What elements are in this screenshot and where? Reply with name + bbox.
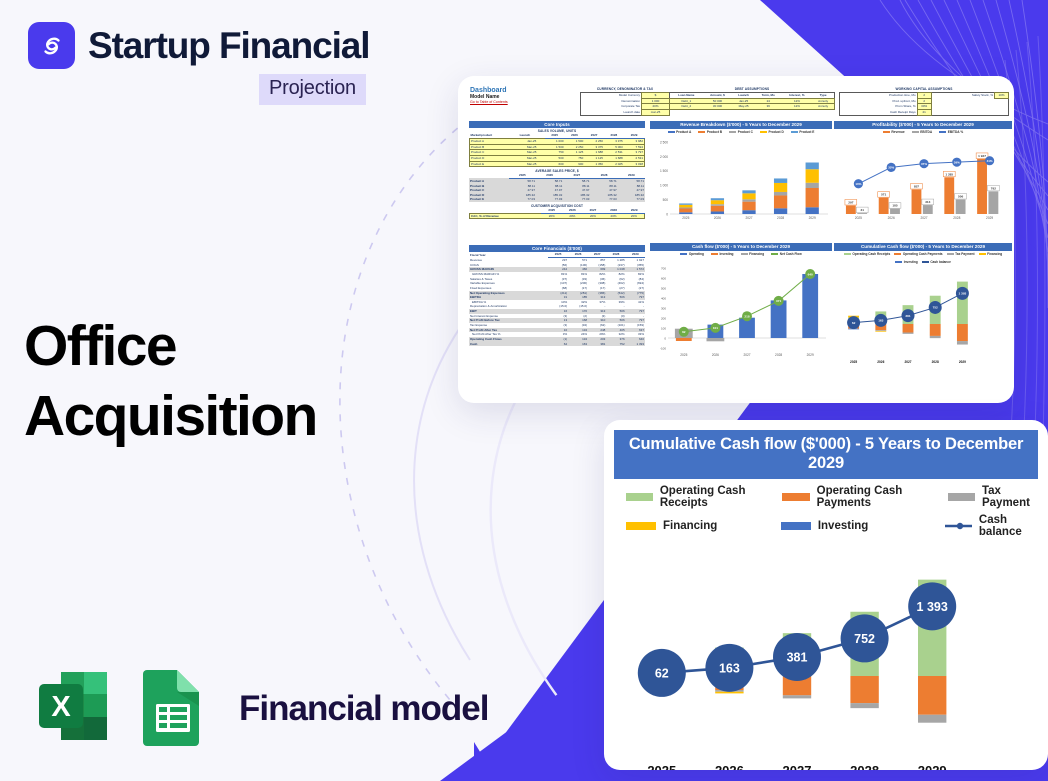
table-row[interactable]: Product EMar-256009001 3502 0253 038	[470, 161, 645, 167]
svg-text:62: 62	[655, 667, 669, 681]
svg-text:1 500: 1 500	[660, 169, 668, 173]
svg-text:506: 506	[958, 194, 963, 198]
sales-price-table[interactable]: 2025 2026 2027 2028 2029 Product A58.715…	[469, 173, 645, 202]
legend-row: Financing Investing Cash balance	[626, 514, 1046, 538]
svg-text:2029: 2029	[807, 353, 814, 357]
svg-text:600: 600	[661, 276, 666, 280]
svg-text:X: X	[51, 691, 71, 723]
svg-text:1 000: 1 000	[660, 183, 668, 187]
svg-text:62: 62	[682, 330, 686, 334]
legend-item: Product D	[760, 130, 784, 134]
svg-text:0: 0	[664, 336, 666, 340]
legend-item: Operating Cash Payments	[894, 252, 942, 256]
svg-text:297: 297	[848, 200, 853, 204]
working-capital-heading: WORKING CAPITAL ASSUMPTIONS	[839, 87, 1009, 91]
svg-text:1 927: 1 927	[978, 154, 986, 158]
cumulative-cash-flow-plot: 2 5002 0001 5001 0005000-500-1 000-1 500…	[614, 543, 1048, 770]
svg-text:-1 500: -1 500	[980, 265, 989, 266]
cumulative-cash-flow-mini-title: Cumulative Cash flow ($'000) - 5 Years t…	[834, 243, 1012, 251]
cash-balance-line-marker	[945, 521, 972, 531]
cumulative-cash-flow-mini-legend: Operating Cash Receipts Operating Cash P…	[834, 251, 1012, 265]
table-row[interactable]: Debt_2 30 000 May-25 36 12% Annuity	[670, 104, 835, 110]
legend-item: Operating	[680, 252, 704, 256]
legend-item: Investing	[711, 252, 734, 256]
profitability-chart: 297312025571185202685731320271 285506202…	[834, 136, 1012, 228]
svg-text:1 393: 1 393	[959, 291, 967, 295]
legend-item: Net Cash Flow	[771, 252, 802, 256]
svg-text:-1 500: -1 500	[980, 543, 1025, 547]
svg-text:700: 700	[661, 266, 666, 270]
google-sheets-icon	[137, 664, 209, 753]
svg-text:2029: 2029	[809, 216, 816, 220]
svg-text:2025: 2025	[850, 360, 857, 364]
brand-lockup: Startup Financial	[28, 22, 369, 69]
core-financials-heading: Core Financials ($'000)	[469, 245, 645, 252]
table-row[interactable]: CAC, % of Revenue20%20%20%20%20%	[470, 213, 645, 219]
legend-item-investing: Investing	[781, 514, 945, 538]
legend-item: Financing	[741, 252, 765, 256]
svg-text:381: 381	[787, 651, 808, 665]
revenue-breakdown-legend: Product A Product B Product C Product D …	[650, 129, 832, 136]
svg-text:400: 400	[661, 296, 666, 300]
legend-item-financing: Financing	[626, 514, 781, 538]
svg-text:371: 371	[776, 299, 781, 303]
currency-block-heading: CURRENCY, DENOMINATOR & TAX	[580, 87, 670, 91]
svg-text:2025: 2025	[680, 353, 687, 357]
legend-item: EBITDA %	[939, 130, 963, 134]
legend-item: Product E	[791, 130, 815, 134]
legend-item: Product A	[668, 130, 692, 134]
svg-text:2027: 2027	[745, 216, 752, 220]
page-title: Office Acquisition	[24, 312, 317, 451]
svg-text:2027: 2027	[743, 353, 750, 357]
svg-text:2029: 2029	[986, 216, 993, 220]
microsoft-excel-icon: X	[31, 664, 115, 753]
svg-text:37%: 37%	[921, 162, 927, 166]
svg-text:2026: 2026	[712, 353, 719, 357]
svg-text:857: 857	[914, 184, 919, 188]
svg-text:752: 752	[933, 305, 938, 309]
svg-text:300: 300	[661, 306, 666, 310]
cumulative-cash-flow-title: Cumulative Cash flow ($'000) - 5 Years t…	[614, 430, 1038, 479]
svg-text:640: 640	[808, 272, 813, 276]
svg-text:2027: 2027	[783, 763, 812, 770]
table-row: Cash Receipt Days21	[840, 109, 1009, 115]
svg-text:2028: 2028	[932, 360, 939, 364]
svg-text:1 393: 1 393	[917, 600, 948, 614]
svg-text:2028: 2028	[777, 216, 784, 220]
legend-row: Operating Cash Receipts Operating Cash P…	[626, 485, 1046, 509]
svg-text:1 285: 1 285	[945, 172, 953, 176]
cumulative-cash-flow-mini-chart: 2 5002 0001 5001 0005000-500-1 000-1 500…	[834, 265, 1012, 377]
svg-text:313: 313	[925, 200, 930, 204]
svg-text:0: 0	[666, 212, 668, 216]
svg-text:571: 571	[881, 192, 886, 196]
svg-text:792: 792	[991, 186, 996, 190]
cash-flow-legend: Operating Investing Financing Net Cash F…	[650, 251, 832, 258]
cell: 62	[548, 342, 568, 347]
cell: 163	[568, 342, 588, 347]
e-loop-icon	[28, 22, 75, 69]
table-row: Product E77.0377.0377.0377.0377.03	[469, 197, 645, 202]
core-inputs-heading: Core Inputs	[469, 121, 645, 128]
legend-item: Financing	[979, 252, 1003, 256]
svg-text:163: 163	[719, 662, 740, 676]
svg-text:2026: 2026	[715, 763, 744, 770]
svg-text:752: 752	[854, 632, 875, 646]
svg-text:101: 101	[713, 326, 718, 330]
cash-flow-chart: -100010020030040050060070020252026202720…	[650, 258, 832, 374]
legend-item: Cash balance	[922, 260, 951, 264]
legend-item: EBITDA	[912, 130, 932, 134]
svg-text:2 000: 2 000	[660, 155, 668, 159]
format-badges: X Financial model	[31, 664, 489, 753]
profitability-title: Profitability ($'000) - 5 Years to Decem…	[834, 121, 1012, 129]
legend-item: Revenue	[883, 130, 905, 134]
svg-text:2025: 2025	[647, 763, 676, 770]
svg-text:39%: 39%	[954, 160, 960, 164]
revenue-breakdown-chart: 05001 0001 5002 0002 5002025202620272028…	[650, 136, 832, 228]
svg-text:2027: 2027	[920, 216, 927, 220]
sales-volume-table[interactable]: Market/product Launch 2025 2026 2027 202…	[469, 133, 645, 167]
cell: 752	[606, 342, 625, 347]
core-financials-table[interactable]: Fiscal Year20252026202720282029Revenue29…	[469, 252, 645, 346]
slide-canvas: Startup Financial Projection Office Acqu…	[0, 0, 1048, 781]
legend-item: Investing	[895, 260, 918, 264]
svg-text:32%: 32%	[888, 165, 894, 169]
svg-text:2028: 2028	[953, 216, 960, 220]
svg-text:-100: -100	[660, 346, 666, 350]
svg-text:2028: 2028	[850, 763, 879, 770]
page-title-line1: Office	[24, 312, 317, 382]
legend-item-cash-balance: Cash balance	[945, 514, 1046, 538]
legend-item-tax-payment: Tax Payment	[948, 485, 1046, 509]
cash-flow-title: Cash flow ($'000) - 5 Years to December …	[650, 243, 832, 251]
svg-text:2 500: 2 500	[660, 140, 668, 144]
legend-item: Product B	[698, 130, 722, 134]
svg-text:381: 381	[905, 313, 910, 317]
svg-text:31: 31	[860, 208, 864, 212]
currency-assumptions-table[interactable]: Model Currency$ Denomination1 000 Corpor…	[580, 92, 670, 116]
svg-text:2025: 2025	[682, 216, 689, 220]
row-label: Cash	[469, 342, 548, 347]
working-capital-table[interactable]: Production time, Mo 2 Safety Stock, % 10…	[839, 92, 1009, 116]
format-badges-label: Financial model	[239, 689, 489, 729]
legend-item-operating-cash-payments: Operating Cash Payments	[782, 485, 947, 509]
table-row: Launch datemar-25	[581, 109, 670, 115]
svg-text:2027: 2027	[904, 360, 911, 364]
svg-text:200: 200	[661, 316, 666, 320]
svg-text:2026: 2026	[877, 360, 884, 364]
brand-title: Startup Financial	[88, 27, 369, 64]
svg-text:41%: 41%	[987, 159, 993, 163]
svg-text:218: 218	[744, 314, 749, 318]
legend-item: Tax Payment	[947, 252, 975, 256]
cell: 381	[588, 342, 606, 347]
svg-text:2029: 2029	[959, 360, 966, 364]
cumulative-cash-flow-legend: Operating Cash Receipts Operating Cash P…	[614, 479, 1048, 538]
legend-item: Operating Cash Receipts	[844, 252, 891, 256]
svg-text:500: 500	[661, 286, 666, 290]
legend-item: Product C	[729, 130, 753, 134]
svg-text:2028: 2028	[775, 353, 782, 357]
debt-block-heading: DEBT ASSUMPTIONS	[669, 87, 835, 91]
brand-subtitle: Projection	[259, 74, 366, 105]
svg-text:163: 163	[878, 318, 883, 322]
page-title-line2: Acquisition	[24, 382, 317, 452]
svg-text:2026: 2026	[714, 216, 721, 220]
legend-item-operating-cash-receipts: Operating Cash Receipts	[626, 485, 782, 509]
revenue-breakdown-title: Revenue Breakdown ($'000) - 5 Years to D…	[650, 121, 832, 129]
svg-text:500: 500	[663, 198, 669, 202]
svg-text:100: 100	[661, 326, 666, 330]
svg-text:185: 185	[892, 203, 897, 207]
cell: 1 393	[626, 342, 645, 347]
table-row: Cash621633817521 393	[469, 342, 645, 347]
svg-text:10%: 10%	[855, 182, 861, 186]
profitability-legend: Revenue EBITDA EBITDA %	[834, 129, 1012, 136]
svg-text:2026: 2026	[888, 216, 895, 220]
svg-text:62: 62	[852, 320, 856, 324]
debt-assumptions-table[interactable]: Loan Name Amount, $ Launch Term, Mo Inte…	[669, 92, 835, 110]
svg-text:2029: 2029	[918, 763, 947, 770]
cumulative-cash-flow-card[interactable]: Cumulative Cash flow ($'000) - 5 Years t…	[604, 420, 1048, 770]
svg-text:2025: 2025	[855, 216, 862, 220]
dashboard-screenshot-card[interactable]: Dashboard Model Name Go to Table of Cont…	[458, 76, 1014, 403]
cac-table[interactable]: 2025 2026 2027 2028 2029 CAC, % of Reven…	[469, 208, 645, 219]
